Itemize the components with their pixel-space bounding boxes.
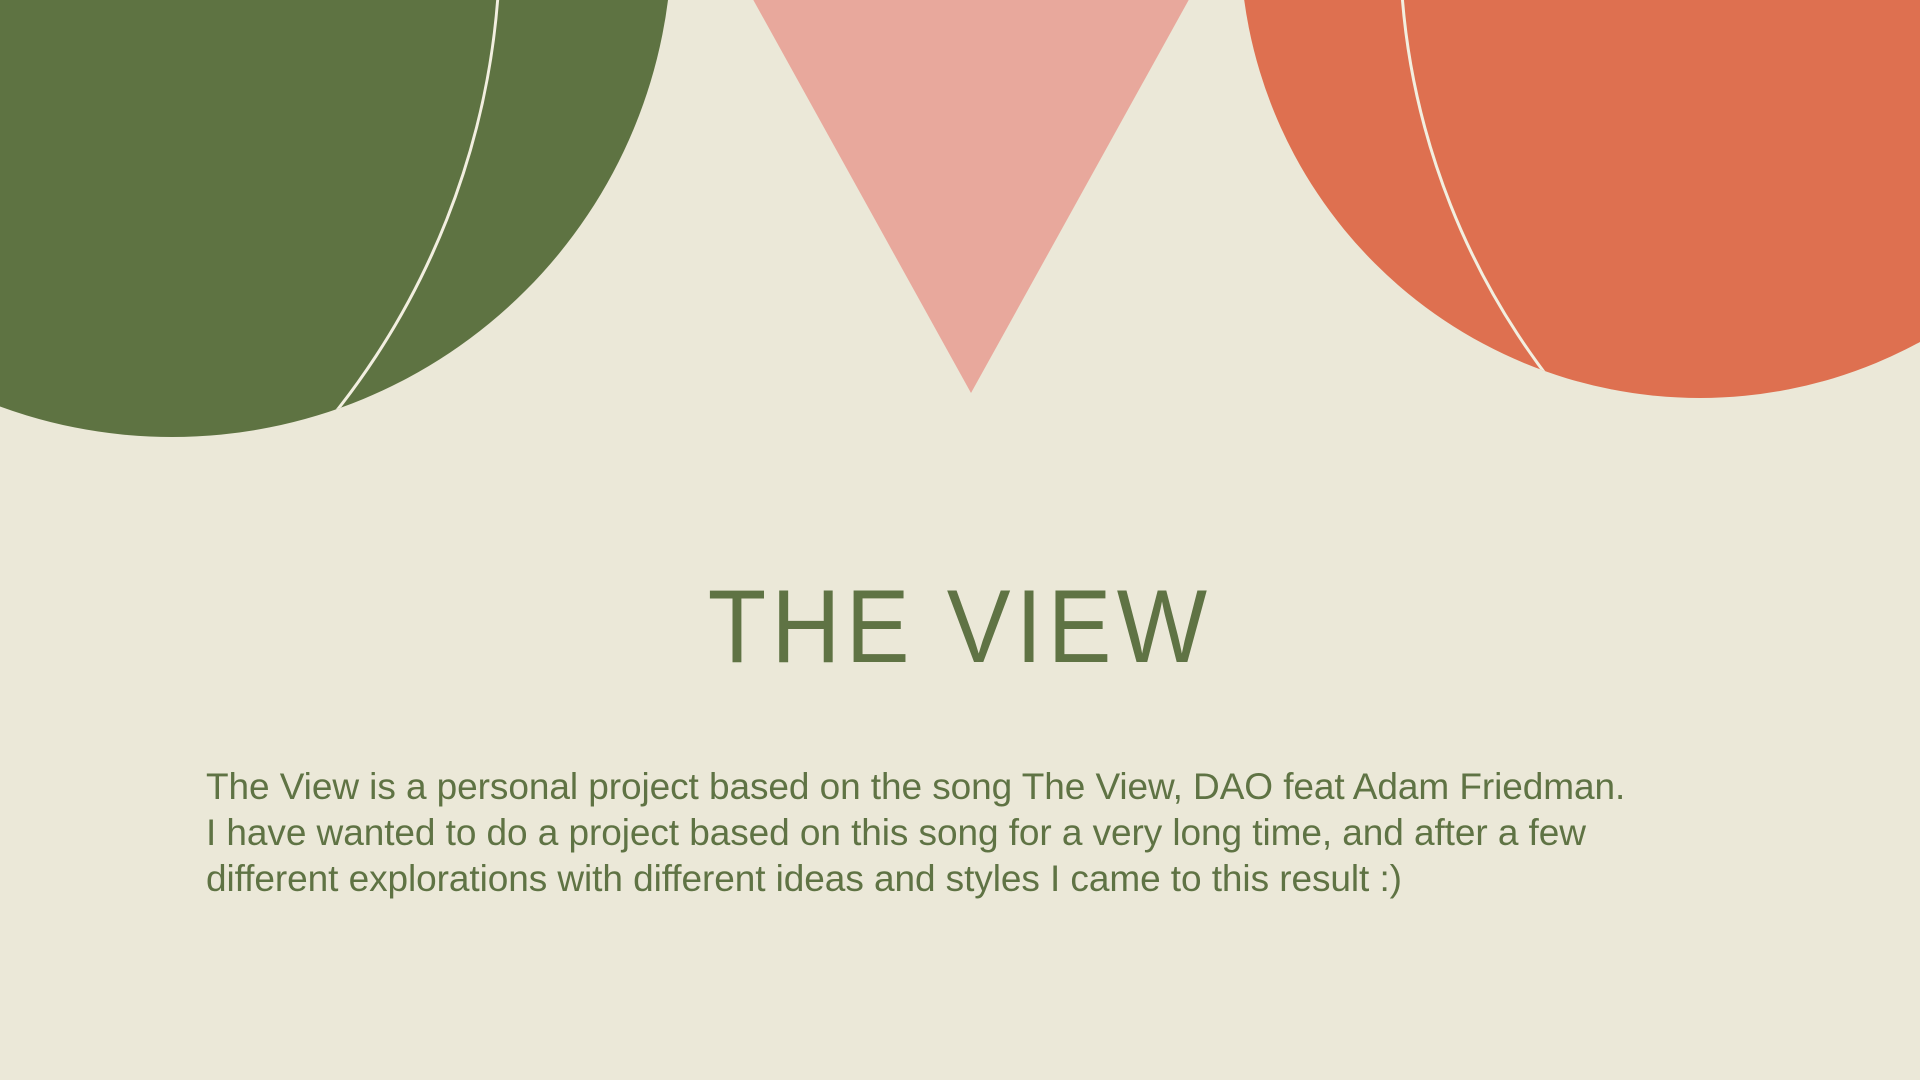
orange-circle bbox=[1240, 0, 1920, 398]
pink-diamond bbox=[565, 0, 1377, 393]
body-line-1: The View is a personal project based on … bbox=[206, 764, 1766, 810]
slide-canvas: THE VIEW The View is a personal project … bbox=[0, 0, 1920, 1080]
pink-diamond-group bbox=[0, 0, 1920, 570]
decorative-shapes bbox=[0, 0, 1920, 1080]
orange-circle-group bbox=[1240, 0, 1920, 660]
pink-diamond-arc-left bbox=[640, 0, 1920, 570]
body-description: The View is a personal project based on … bbox=[206, 764, 1766, 902]
pink-diamond-arc-right bbox=[0, 0, 1312, 570]
orange-circle-arc bbox=[1400, 0, 1920, 660]
green-circle bbox=[0, 0, 672, 437]
page-title: THE VIEW bbox=[77, 575, 1843, 679]
body-line-2: I have wanted to do a project based on t… bbox=[206, 810, 1766, 856]
body-line-3: different explorations with different id… bbox=[206, 856, 1766, 902]
